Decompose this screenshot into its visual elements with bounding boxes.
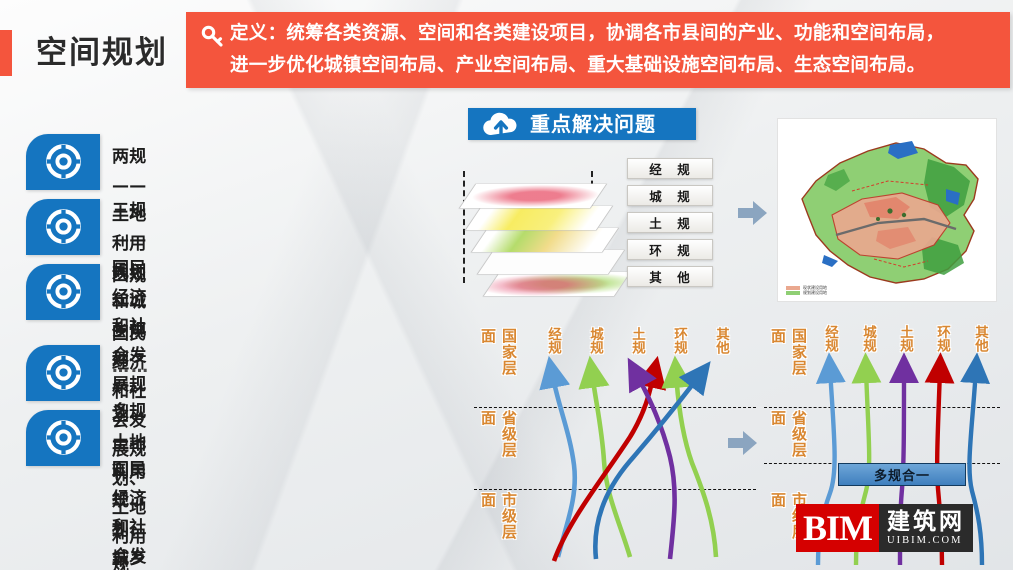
plan-box-char2: 规 <box>677 213 691 232</box>
plan-box[interactable]: 经 规 <box>627 158 713 179</box>
plan-box-char2: 规 <box>677 240 691 259</box>
map-layer-stack <box>458 163 630 288</box>
plan-box-char2: 规 <box>677 186 691 205</box>
arrow-right-icon <box>728 430 758 456</box>
plan-box[interactable]: 其 他 <box>627 266 713 287</box>
lifebuoy-icon <box>26 410 100 466</box>
lifebuoy-icon <box>26 134 100 190</box>
banner-line-2: 进一步优化城镇空间布局、产业空间布局、重大基础设施空间布局、生态空间布局。 <box>230 50 1006 82</box>
list-item-label: 多规——国民经济和社会发展规划、 土地利用规划、城乡规划、环保规划、 林业规划、… <box>112 398 161 570</box>
land-use-map: 现状建设用地 规划建设用地 <box>777 118 997 302</box>
slide-canvas: 空间规划 定义：统筹各类资源、空间和各类建设项目，协调各市县间的产业、功能和空间… <box>0 0 1013 570</box>
lifebuoy-icon <box>26 199 100 255</box>
stack-layer <box>471 228 620 253</box>
watermark: BIM 建筑网 UIBIM.COM <box>796 504 973 552</box>
plan-box-char2: 他 <box>677 267 691 286</box>
plan-box-char1: 土 <box>649 213 663 232</box>
watermark-cn-block: 建筑网 UIBIM.COM <box>879 504 973 552</box>
plan-box-char1: 经 <box>649 159 663 178</box>
plan-box[interactable]: 环 规 <box>627 239 713 260</box>
arrow-right-icon <box>738 200 768 226</box>
watermark-cn-text: 建筑网 <box>887 510 965 535</box>
stack-layer <box>483 272 632 297</box>
banner-text: 定义：统筹各类资源、空间和各类建设项目，协调各市县间的产业、功能和空间布局， 进… <box>230 18 1006 82</box>
list-item-label: …… <box>112 353 150 382</box>
plan-box-char2: 规 <box>677 159 691 178</box>
map-legend: 现状建设用地 规划建设用地 <box>786 285 827 295</box>
plan-box-char1: 城 <box>649 186 663 205</box>
crossing-arrows <box>470 325 770 568</box>
lifebuoy-icon <box>26 264 100 320</box>
definition-banner: 定义：统筹各类资源、空间和各类建设项目，协调各市县间的产业、功能和空间布局， 进… <box>186 12 1010 88</box>
stack-layer <box>465 206 614 231</box>
watermark-domain: UIBIM.COM <box>887 535 965 547</box>
watermark-brand: BIM <box>796 504 879 552</box>
plan-box-char1: 其 <box>649 267 663 286</box>
title-accent-bar <box>0 30 12 76</box>
cloud-upload-icon <box>480 112 522 141</box>
stack-layer <box>477 250 626 275</box>
plan-box[interactable]: 城 规 <box>627 185 713 206</box>
map-legend-item: 规划建设用地 <box>786 290 827 295</box>
focus-problems-header: 重点解决问题 <box>468 108 696 140</box>
unified-planning-label: 多规合一 <box>874 465 930 484</box>
key-icon <box>200 24 226 50</box>
focus-problems-label: 重点解决问题 <box>530 111 656 137</box>
plan-box-char1: 环 <box>649 240 663 259</box>
stack-layer <box>459 184 608 209</box>
diagram-before-integration: 国家层面 省级层面 市级层面 经规 城规 土规 环规 其他 <box>470 325 705 568</box>
banner-line-1: 定义：统筹各类资源、空间和各类建设项目，协调各市县间的产业、功能和空间布局， <box>230 18 1006 50</box>
lifebuoy-icon <box>26 345 100 401</box>
unified-planning-box[interactable]: 多规合一 <box>838 463 966 486</box>
plan-box[interactable]: 土 规 <box>627 212 713 233</box>
page-title: 空间规划 <box>36 27 168 72</box>
